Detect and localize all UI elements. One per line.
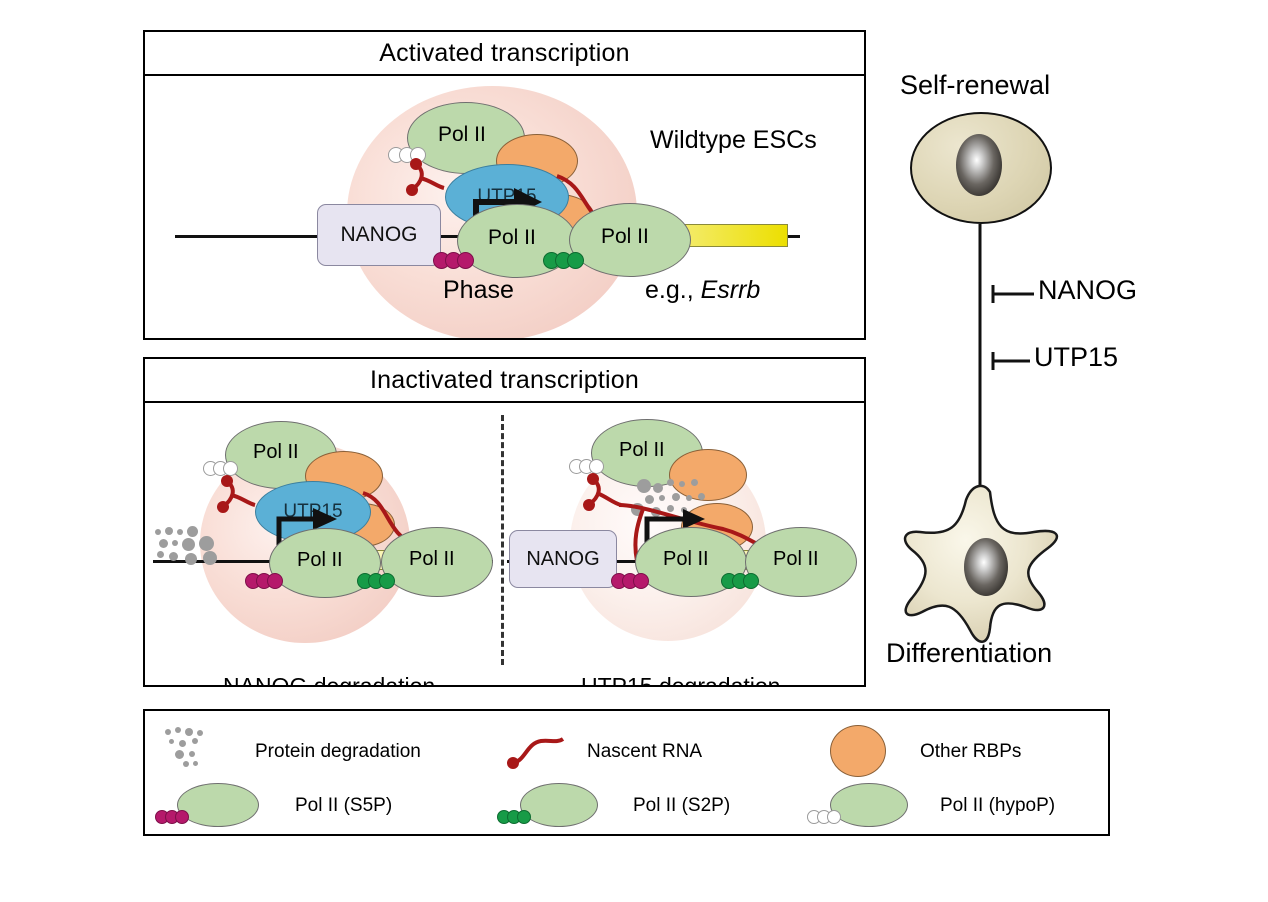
s2p-bead (743, 573, 759, 589)
nascent-rna-left-small (211, 473, 281, 543)
inhibition-bar-icon (990, 350, 1034, 374)
pol2-s2p-icon (520, 783, 598, 827)
legend-label-other-rbps: Other RBPs (920, 741, 1021, 763)
genotype-label: Wildtype ESCs (650, 126, 817, 155)
polii-s2p-label-left: Pol II (409, 548, 455, 571)
s5p-bead (175, 810, 189, 824)
nascent-rna-left (400, 156, 470, 226)
hypop-bead (827, 810, 841, 824)
legend-label-nascent-rna: Nascent RNA (587, 741, 702, 763)
legend-panel: Protein degradation Nascent RNA Other RB… (143, 709, 1110, 836)
inhibition-bar-icon (990, 283, 1038, 307)
pol2-hypop-icon (830, 783, 908, 827)
panel-inactivated-transcription: Inactivated transcription Pol II UTP15 (143, 357, 866, 687)
polii-s5p-label-right: Pol II (663, 548, 709, 571)
example-gene-label: e.g., Esrrb (645, 276, 760, 305)
self-renewal-label: Self-renewal (900, 70, 1050, 101)
example-gene-italic: Esrrb (701, 276, 761, 304)
s5p-bead (267, 573, 283, 589)
polii-s5p-label: Pol II (488, 226, 536, 250)
stem-cell-nucleus (956, 134, 1002, 196)
inhibitor-nanog-label: NANOG (1038, 275, 1137, 306)
pol2-s5p-icon (177, 783, 259, 827)
legend-label-pol2-s5p: Pol II (S5P) (295, 795, 392, 817)
other-rbps-icon (830, 725, 886, 777)
differentiation-label: Differentiation (886, 638, 1052, 669)
s2p-bead (517, 810, 531, 824)
polii-s2p-label-right: Pol II (773, 548, 819, 571)
panel-inactivated-body: Pol II UTP15 (145, 403, 864, 685)
cell-fate-column: Self-renewal NANOG UTP15 (880, 70, 1160, 690)
polii-s2p-label: Pol II (601, 225, 649, 249)
legend-label-pol2-hypop: Pol II (hypoP) (940, 795, 1055, 817)
caption-utp15-degradation: UTP15 degradation (581, 673, 780, 685)
polii-hypop-label-right: Pol II (619, 439, 665, 462)
polii-hypop-label: Pol II (438, 123, 486, 147)
nascent-rna-icon (505, 733, 575, 773)
polii-hypop-label-left: Pol II (253, 441, 299, 464)
panel-inactivated-title: Inactivated transcription (145, 359, 864, 403)
s2p-bead (379, 573, 395, 589)
example-prefix: e.g., (645, 276, 701, 304)
legend-label-pol2-s2p: Pol II (S2P) (633, 795, 730, 817)
panel-activated-body: Phase NANOG Pol II UTP15 (145, 76, 864, 338)
s5p-bead (457, 252, 474, 269)
s5p-bead (633, 573, 649, 589)
inhibitor-utp15-label: UTP15 (1034, 342, 1118, 373)
s2p-bead (567, 252, 584, 269)
legend-label-protein-degradation: Protein degradation (255, 741, 421, 763)
other-rbp-ellipse-right (669, 449, 747, 501)
panel-activated-title: Activated transcription (145, 32, 864, 76)
differentiated-cell-nucleus (964, 538, 1008, 596)
caption-nanog-degradation: NANOG degradation (223, 673, 435, 685)
polii-s5p-label-left: Pol II (297, 549, 343, 572)
phase-label: Phase (443, 276, 514, 305)
panel-activated-transcription: Activated transcription Phase NANOG Pol … (143, 30, 866, 340)
